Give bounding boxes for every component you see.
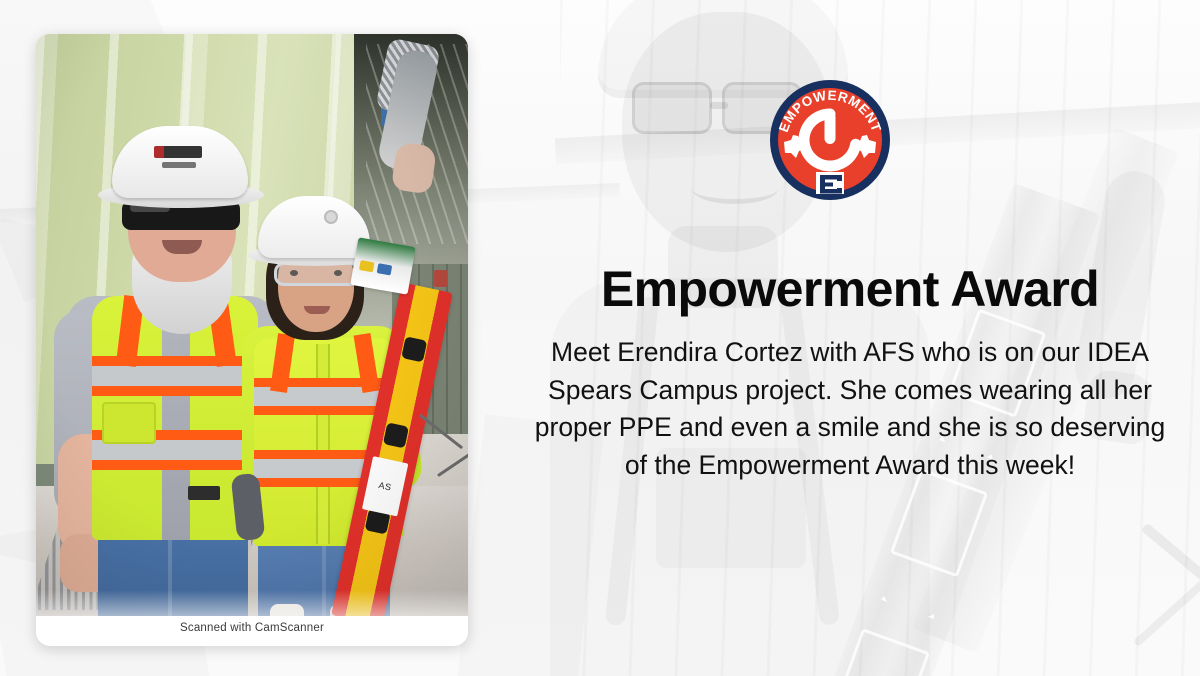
award-graphic: AS Scanned with CamScanner EMPOWE	[0, 0, 1200, 676]
award-description: Meet Erendira Cortez with AFS who is on …	[526, 334, 1174, 485]
photo-exit-sign	[434, 270, 447, 287]
photo-worker-a-vest-pocket	[102, 402, 156, 444]
content-column: EMPOWERMENT	[520, 0, 1180, 676]
photo-worker-b-mouth	[304, 306, 330, 314]
photo-worker-a-reflective-band	[92, 364, 258, 386]
photo-level-vial	[401, 336, 427, 362]
worker-photo: AS	[36, 34, 468, 616]
camscanner-caption: Scanned with CamScanner	[36, 622, 468, 634]
photo-worker-a-hardhat-subtext	[162, 162, 196, 168]
photo-card: AS Scanned with CamScanner	[36, 34, 468, 646]
photo-bottom-fade	[36, 590, 468, 616]
photo-tool-case	[350, 237, 415, 294]
photo-worker-a-badge	[188, 486, 220, 500]
photo-reaching-hand	[391, 141, 437, 194]
photo-worker-a-orange-stripe	[92, 386, 258, 396]
empowerment-logo: EMPOWERMENT	[768, 78, 892, 202]
photo-worker-a-vest-opening	[162, 300, 190, 540]
photo-level-vial	[383, 422, 409, 448]
page-title: Empowerment Award	[520, 262, 1180, 316]
photo-worker-b-hardhat-emblem	[324, 210, 338, 224]
photo-worker-a-orange-stripe	[92, 460, 258, 470]
photo-level-label: AS	[362, 456, 408, 516]
photo-worker-b-vest-opening	[316, 344, 330, 544]
photo-worker-a-hardhat-logo	[154, 146, 202, 158]
